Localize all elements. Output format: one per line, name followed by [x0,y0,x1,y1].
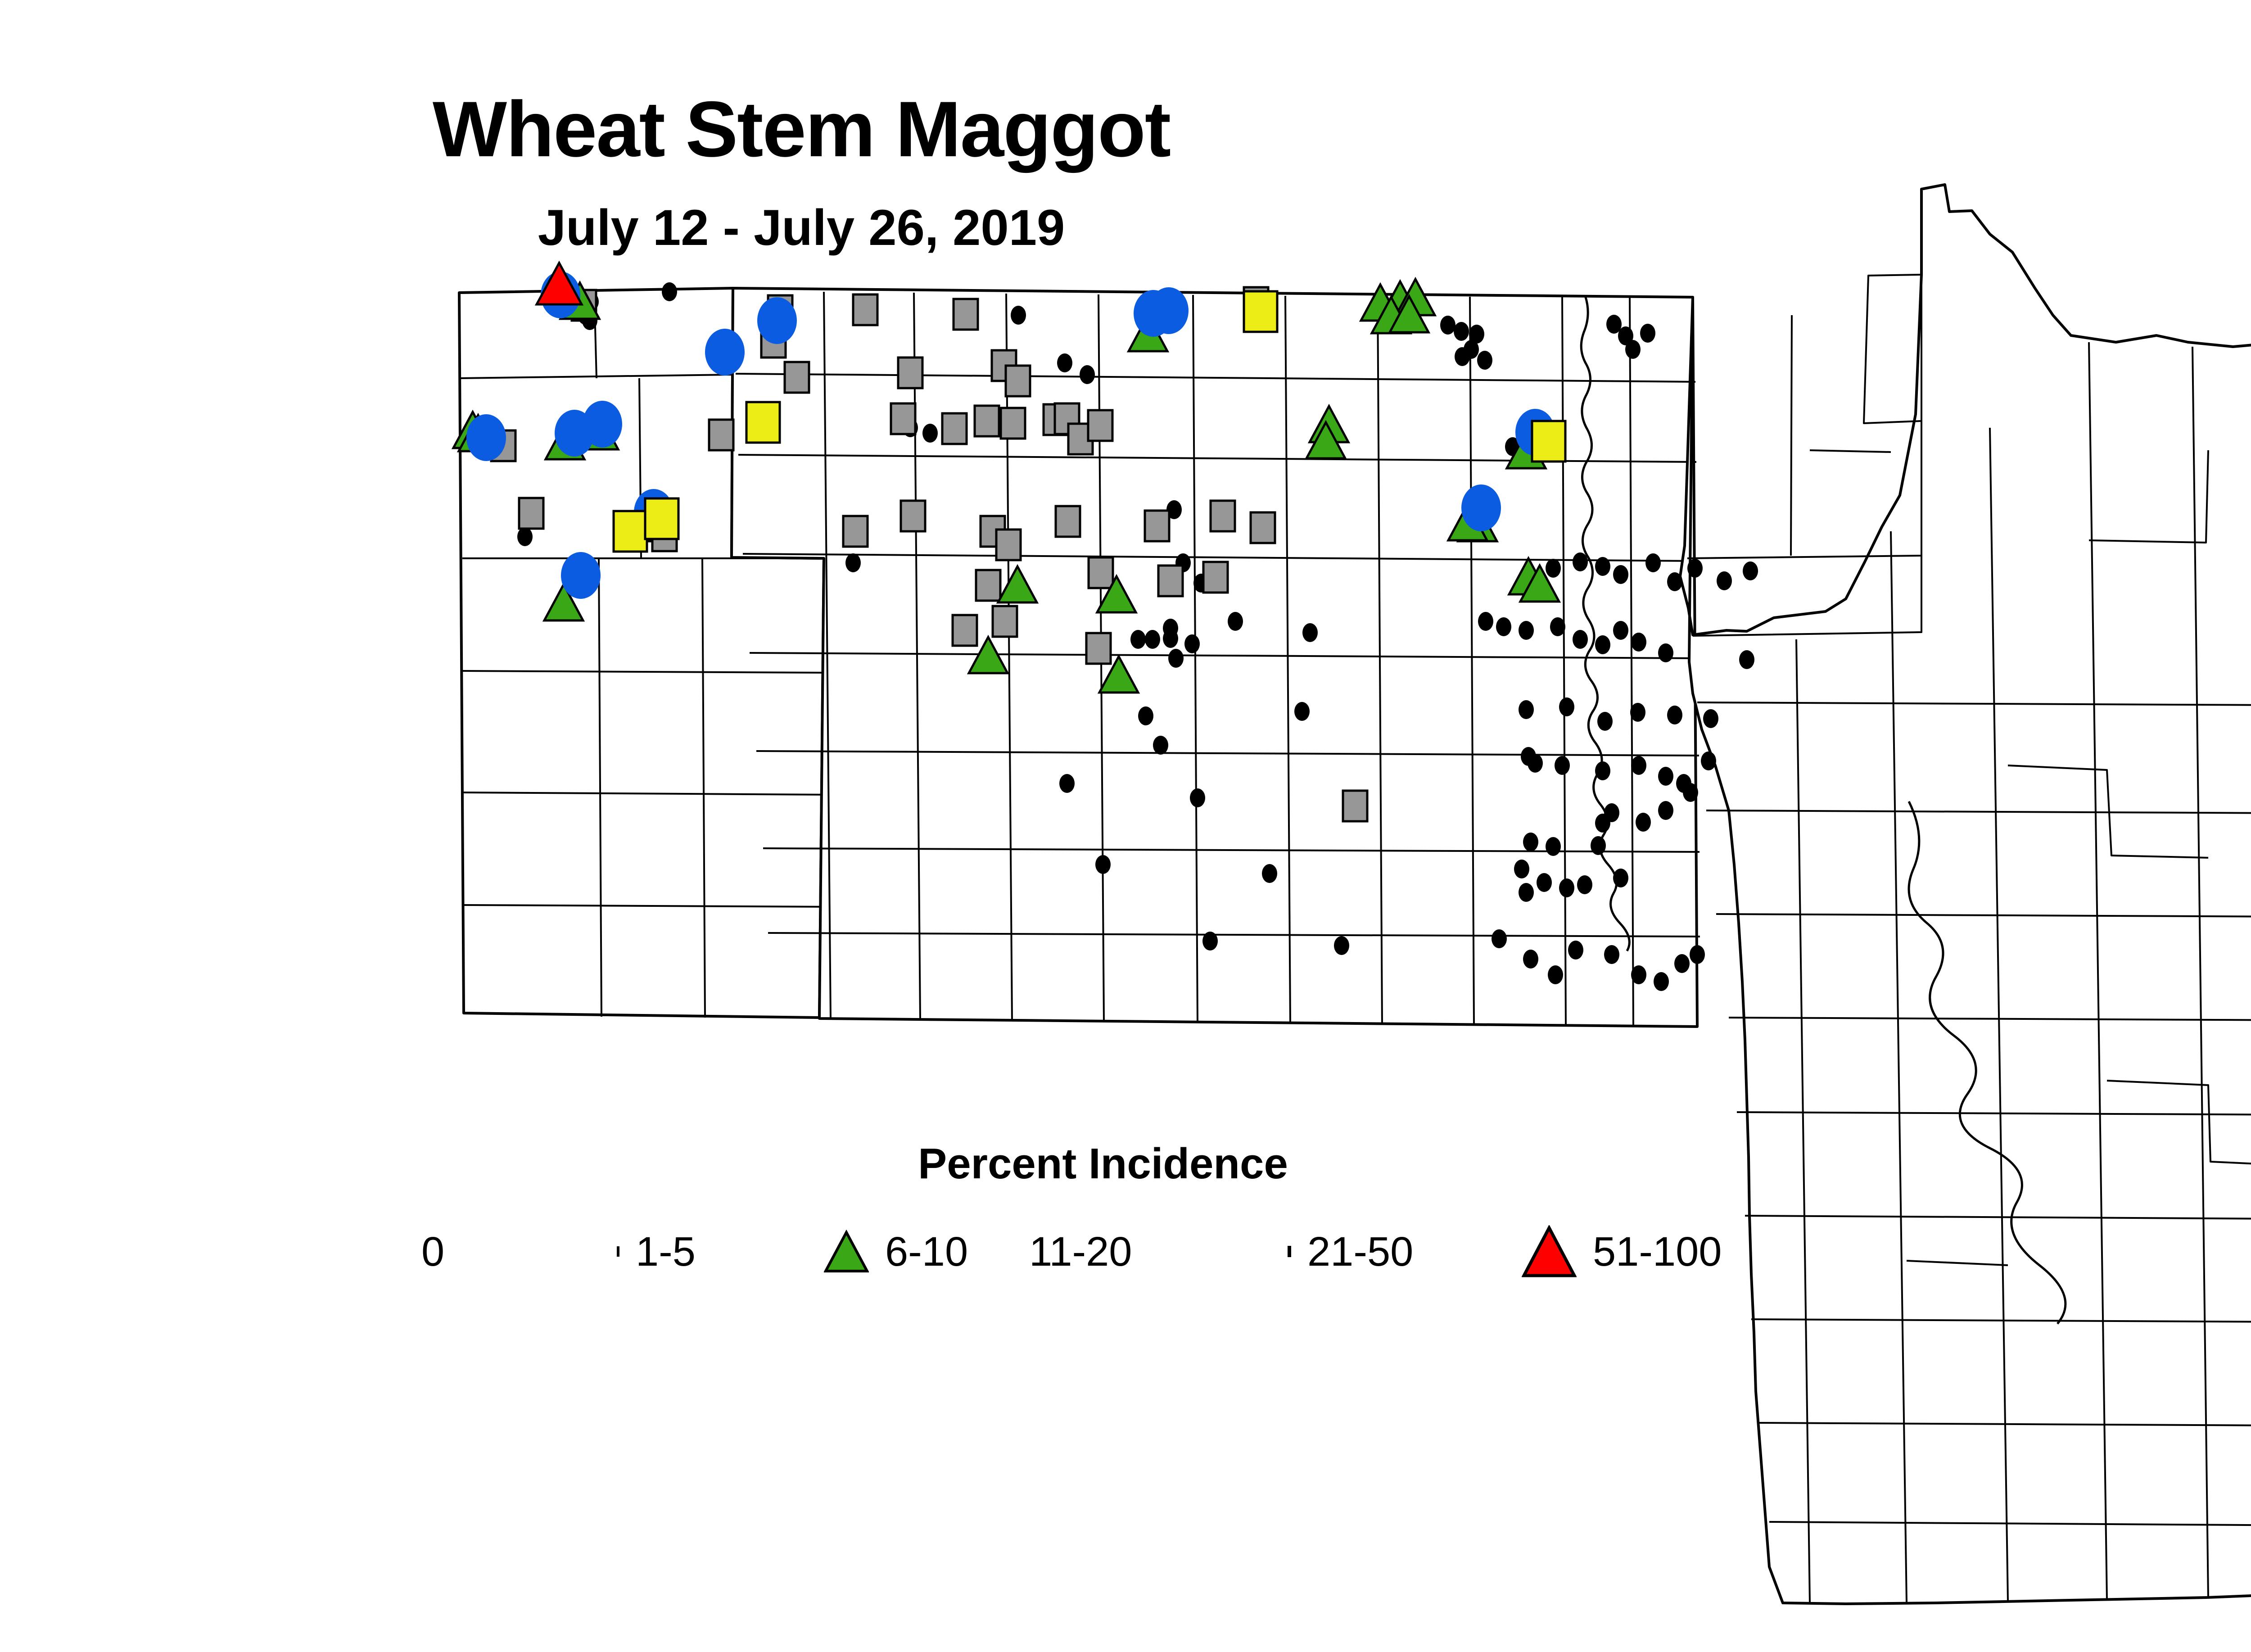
map-marker-0[interactable] [1294,702,1310,721]
map-marker-11-20[interactable] [757,297,797,344]
map-marker-1-5[interactable] [785,362,809,393]
map-marker-0[interactable] [1658,767,1673,786]
map-marker-0[interactable] [1184,634,1200,653]
map-marker-0[interactable] [1138,706,1153,725]
map-marker-0[interactable] [1059,774,1075,793]
map-marker-0[interactable] [845,553,861,572]
map-marker-0[interactable] [1455,347,1470,366]
map-marker-1-5[interactable] [1088,410,1112,441]
map-marker-21-50[interactable] [614,511,647,552]
legend-item-0[interactable]: 0 [405,1220,444,1283]
map-marker-0[interactable] [1496,617,1511,636]
map-marker-0[interactable] [1190,788,1205,807]
map-marker-0[interactable] [1717,571,1732,590]
map-marker-0[interactable] [1454,322,1469,341]
legend-label-2: 6-10 [885,1228,968,1276]
map-marker-1-5[interactable] [1158,566,1183,596]
map-marker-0[interactable] [922,424,938,443]
map-marker-0[interactable] [1168,649,1184,668]
map-marker-0[interactable] [1555,756,1570,775]
map-marker-11-20[interactable] [583,401,622,448]
map-figure: Wheat Stem Maggot July 12 - July 26, 201… [0,0,2251,1652]
map-marker-0[interactable] [1523,950,1538,969]
map-marker-0[interactable] [1667,706,1682,724]
map-marker-0[interactable] [1631,633,1646,652]
map-marker-21-50[interactable] [746,402,780,443]
map-marker-0[interactable] [1492,929,1507,948]
map-marker-11-20[interactable] [705,329,745,376]
map-marker-0[interactable] [1703,709,1718,728]
map-marker-0[interactable] [1645,553,1661,572]
map-marker-1-5[interactable] [1145,511,1169,541]
gray-square-icon [617,1248,619,1256]
incidence-map[interactable] [0,0,2251,1652]
map-marker-0[interactable] [1739,650,1754,669]
legend-item-4[interactable]: 21-50 [1288,1220,1413,1283]
map-marker-0[interactable] [1519,883,1534,902]
map-marker-0[interactable] [1559,878,1574,897]
map-marker-0[interactable] [1514,860,1529,878]
legend-label-4: 21-50 [1307,1228,1413,1276]
legend-item-1[interactable]: 1-5 [617,1220,696,1283]
map-marker-11-20[interactable] [561,552,601,599]
map-marker-1-5[interactable] [1089,557,1113,588]
map-marker-0[interactable] [1631,965,1646,984]
map-marker-0[interactable] [1613,565,1628,584]
legend-item-2[interactable]: 6-10 [824,1220,968,1283]
map-marker-0[interactable] [1519,621,1534,640]
map-marker-0[interactable] [1595,635,1610,654]
map-marker-0[interactable] [1559,697,1574,716]
map-marker-1-5[interactable] [1001,408,1025,439]
map-marker-0[interactable] [1537,873,1552,892]
legend-title: Percent Incidence [405,1139,1801,1189]
green-triangle-icon [824,1230,869,1274]
map-marker-0[interactable] [1334,936,1349,955]
map-marker-1-5[interactable] [891,403,915,434]
map-marker-0[interactable] [1604,945,1619,964]
state-outlines [459,185,2251,1604]
map-marker-0[interactable] [1228,612,1243,631]
map-marker-0[interactable] [662,282,677,301]
map-marker-0[interactable] [1636,813,1651,832]
map-marker-0[interactable] [1658,643,1673,662]
map-marker-0[interactable] [1613,869,1628,887]
map-marker-0[interactable] [1440,316,1455,335]
map-marker-0[interactable] [1262,864,1277,883]
map-marker-0[interactable] [1630,703,1645,722]
map-marker-0[interactable] [1690,945,1705,964]
yellow-square-icon [1288,1248,1291,1256]
legend-label-5: 51-100 [1593,1228,1722,1276]
map-marker-0[interactable] [1528,754,1543,773]
map-marker-0[interactable] [1202,932,1218,950]
map-marker-0[interactable] [1591,836,1606,855]
map-marker-0[interactable] [1667,572,1682,591]
map-marker-1-5[interactable] [853,294,877,325]
map-marker-1-5[interactable] [1006,366,1030,396]
map-marker-1-5[interactable] [843,516,868,547]
map-marker-0[interactable] [1478,612,1493,631]
map-marker-0[interactable] [1573,552,1588,571]
map-marker-1-5[interactable] [1086,633,1111,664]
legend: Percent Incidence 0 1-5 6-10 [405,1139,1801,1301]
map-marker-0[interactable] [1546,559,1561,578]
map-marker-1-5[interactable] [975,406,999,436]
map-marker-1-5[interactable] [953,615,977,646]
map-marker-0[interactable] [1095,855,1111,874]
map-marker-1-5[interactable] [901,501,925,531]
map-marker-0[interactable] [1550,617,1565,636]
legend-item-3[interactable]: 11-20 [1013,1220,1132,1283]
map-marker-1-5[interactable] [954,299,978,330]
map-marker-0[interactable] [1577,875,1592,894]
map-marker-0[interactable] [1523,833,1538,851]
map-marker-0[interactable] [1163,619,1178,638]
map-marker-0[interactable] [1595,557,1610,576]
map-marker-0[interactable] [1613,621,1628,640]
map-marker-21-50[interactable] [645,498,678,539]
map-marker-1-5[interactable] [976,570,1000,601]
map-marker-0[interactable] [1631,756,1646,775]
map-marker-0[interactable] [1145,630,1160,649]
map-marker-0[interactable] [1130,630,1146,649]
map-marker-1-5[interactable] [1343,791,1367,821]
legend-label-1: 1-5 [636,1228,696,1276]
map-marker-0[interactable] [1654,972,1669,991]
map-marker-0[interactable] [1477,351,1492,370]
map-marker-11-20[interactable] [1461,484,1501,531]
map-marker-0[interactable] [1057,353,1072,372]
map-marker-1-5[interactable] [1203,562,1228,593]
map-marker-0[interactable] [1625,340,1641,359]
map-marker-0[interactable] [1658,801,1673,820]
map-marker-1-5[interactable] [519,498,543,529]
map-marker-0[interactable] [1674,954,1690,973]
map-marker-1-5[interactable] [1211,501,1235,531]
map-marker-0[interactable] [1011,306,1026,325]
map-marker-0[interactable] [1597,712,1613,731]
map-marker-1-5[interactable] [709,420,733,450]
map-marker-1-5[interactable] [993,606,1017,637]
map-marker-11-20[interactable] [466,414,506,461]
map-marker-1-5[interactable] [996,530,1021,560]
map-marker-0[interactable] [1568,941,1583,960]
map-marker-0[interactable] [1683,783,1698,802]
map-marker-0[interactable] [1080,365,1095,384]
map-marker-1-5[interactable] [1251,512,1275,543]
map-marker-11-20[interactable] [1149,287,1189,334]
map-marker-0[interactable] [1548,965,1563,984]
map-marker-1-5[interactable] [898,358,922,388]
map-marker-0[interactable] [1743,561,1758,580]
map-marker-0[interactable] [1687,559,1703,578]
legend-item-5[interactable]: 51-100 [1522,1220,1722,1283]
map-marker-0[interactable] [1701,751,1716,770]
map-marker-0[interactable] [517,527,533,546]
map-marker-0[interactable] [1546,837,1561,856]
legend-label-3: 11-20 [1029,1228,1132,1276]
map-marker-0[interactable] [1640,324,1655,343]
map-marker-0[interactable] [1519,700,1534,719]
red-triangle-icon [1522,1225,1577,1278]
map-marker-0[interactable] [1153,736,1168,755]
map-marker-1-5[interactable] [1056,506,1080,537]
map-marker-21-50[interactable] [1532,421,1565,462]
legend-label-0: 0 [421,1228,444,1276]
map-marker-1-5[interactable] [942,413,967,444]
map-marker-0[interactable] [1595,761,1610,780]
map-marker-21-50[interactable] [1244,291,1277,332]
map-marker-0[interactable] [1573,630,1588,649]
map-marker-0[interactable] [1595,814,1610,833]
map-marker-0[interactable] [1302,623,1318,642]
minnesota-outline [1680,185,2251,1604]
